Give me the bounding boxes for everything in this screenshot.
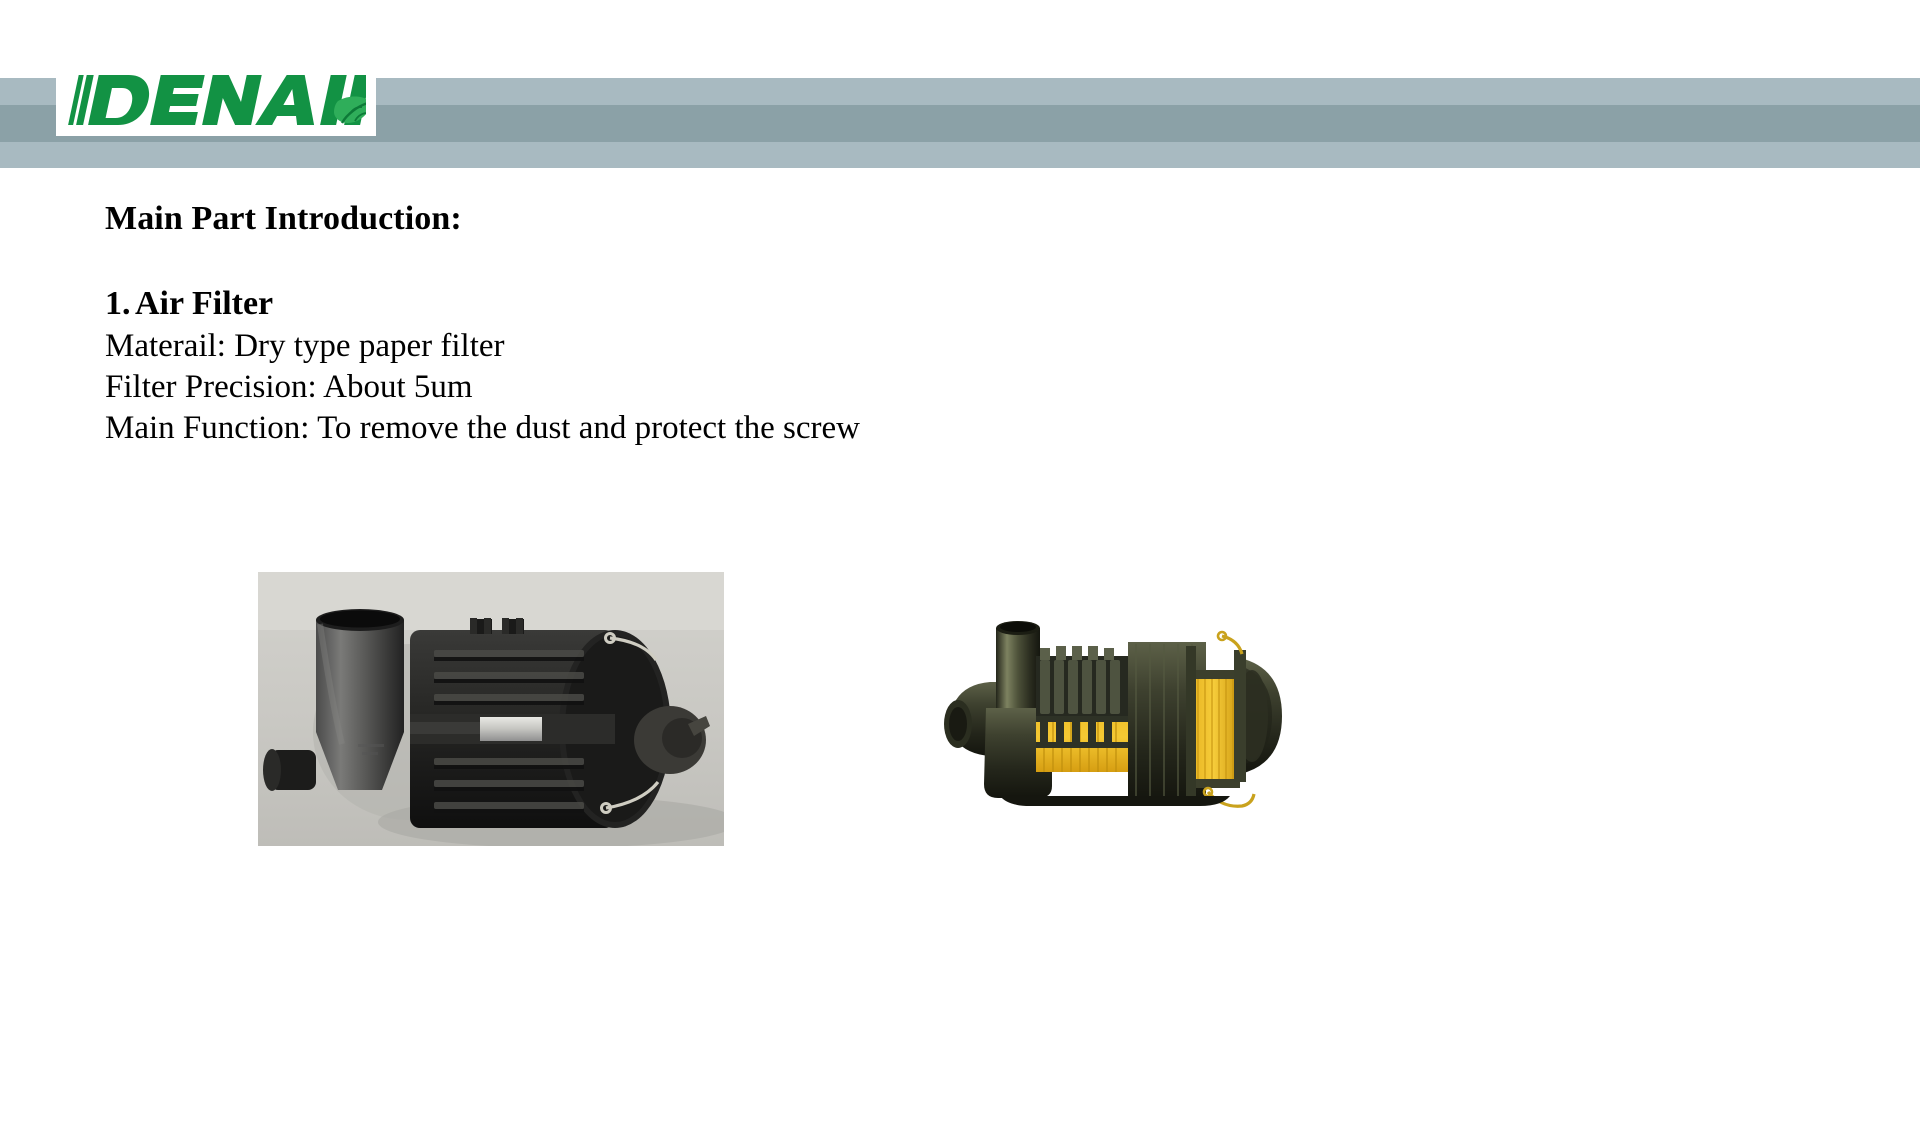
air-filter-cutaway-photo <box>940 596 1320 836</box>
page-title: Main Part Introduction: <box>105 198 1305 241</box>
section-heading: 1.Air Filter <box>105 283 1305 326</box>
spec-line-material: Materail: Dry type paper filter <box>105 326 1305 367</box>
banner-band-bottom <box>0 142 1920 168</box>
spec-line-precision: Filter Precision: About 5um <box>105 367 1305 408</box>
section-number: 1. <box>105 283 135 326</box>
slide-text-content: Main Part Introduction: 1.Air Filter Mat… <box>105 198 1305 449</box>
air-filter-cutaway-image <box>940 596 1320 836</box>
text-spacer <box>105 241 1305 283</box>
air-filter-assembly-photo <box>258 572 724 846</box>
section-title: Air Filter <box>135 285 273 322</box>
air-filter-assembly-image <box>258 572 724 846</box>
spec-line-function: Main Function: To remove the dust and pr… <box>105 408 1305 449</box>
denair-logo <box>66 69 366 131</box>
logo-tile <box>56 64 376 136</box>
